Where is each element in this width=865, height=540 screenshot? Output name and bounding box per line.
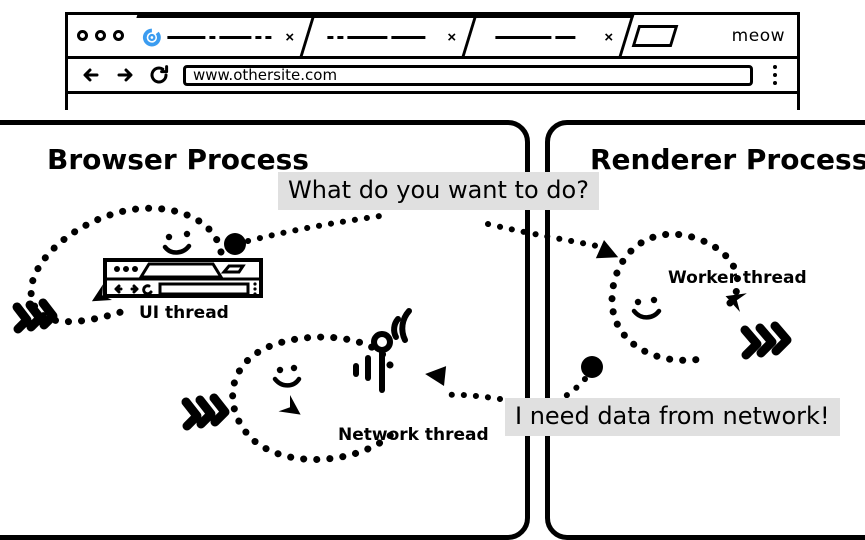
message-bubble-network: I need data from network! [505, 398, 840, 436]
ui-thread-label: UI thread [139, 303, 229, 323]
new-tab-button[interactable] [632, 25, 679, 47]
network-thread-label: Network thread [338, 425, 489, 445]
window-controls [77, 30, 124, 41]
tab-strip: × × × meow [68, 15, 797, 59]
mini-browser-window-icon [103, 258, 263, 298]
maximize-dot-icon[interactable] [95, 30, 106, 41]
browser-process-title: Browser Process [47, 143, 309, 176]
forward-arrow-icon[interactable] [114, 64, 136, 86]
omnibox-row: www.othersite.com [68, 59, 797, 94]
worker-thread-label: Worker thread [668, 268, 807, 288]
tab-title-placeholder-1 [168, 36, 286, 39]
browser-page-viewport [68, 94, 797, 113]
omnibox-input[interactable]: www.othersite.com [183, 65, 753, 86]
browser-brand-label: meow [732, 26, 785, 46]
blue-spinner-icon [143, 28, 162, 47]
browser-tab-2[interactable]: × [300, 15, 478, 56]
renderer-process-title: Renderer Process [590, 143, 865, 176]
message-bubble-question: What do you want to do? [278, 172, 599, 210]
tab-title-placeholder-2 [328, 36, 448, 39]
reload-icon[interactable] [148, 64, 170, 86]
omnibox-value: www.othersite.com [193, 66, 337, 84]
browser-tab-3[interactable]: × [462, 15, 635, 56]
tab-close-button-3[interactable]: × [605, 30, 614, 45]
close-dot-icon[interactable] [113, 30, 124, 41]
minimize-dot-icon[interactable] [77, 30, 88, 41]
tab-close-button-1[interactable]: × [286, 30, 295, 45]
browser-window-mock: × × × meow [65, 12, 800, 110]
browser-tab-1[interactable]: × [125, 15, 316, 56]
tab-title-placeholder-3 [496, 36, 605, 39]
back-arrow-icon[interactable] [80, 64, 102, 86]
kebab-menu-icon[interactable] [764, 65, 786, 85]
tab-close-button-2[interactable]: × [448, 30, 457, 45]
